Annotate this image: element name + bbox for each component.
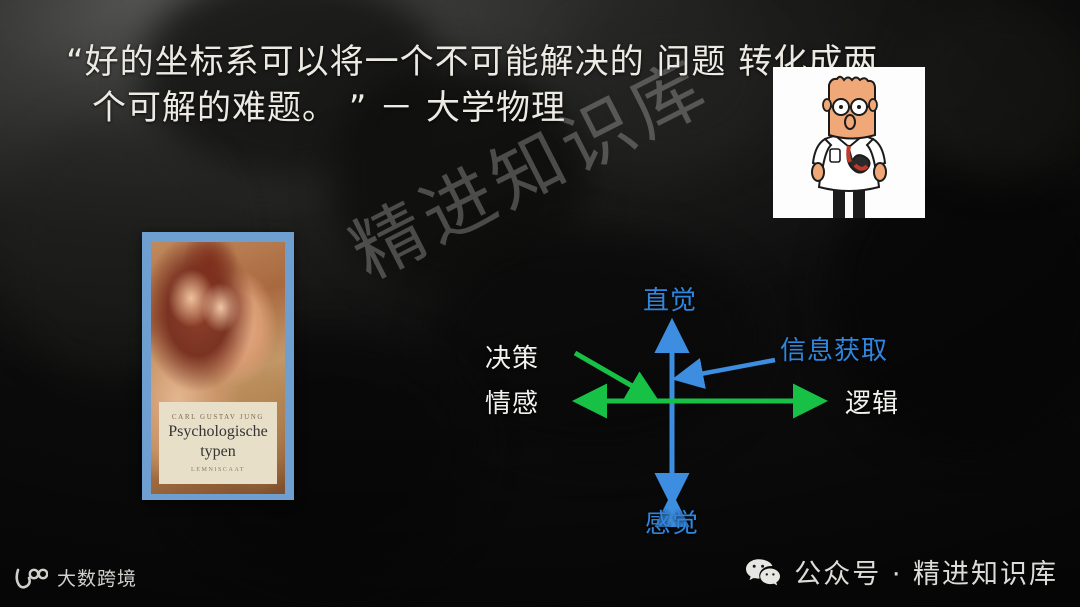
axis-label-feeling: 情感 bbox=[485, 383, 539, 420]
brand-left-label: 大数跨境 bbox=[57, 564, 137, 591]
book-publisher: LEMNISCAAT bbox=[159, 467, 277, 473]
slide-canvas: 精进知识库 “好的坐标系可以将一个不可能解决的 问题 转化成两 个可解的难题。 … bbox=[0, 0, 1080, 607]
decision-pointer-arrow bbox=[575, 353, 653, 398]
book-author: CARL GUSTAV JUNG bbox=[159, 413, 277, 421]
dashu-logo-icon bbox=[14, 567, 48, 589]
book-title-line-2: typen bbox=[159, 444, 277, 461]
wechat-icon bbox=[744, 557, 782, 587]
annotation-label-decision: 决策 bbox=[485, 338, 539, 375]
axis-label-sensation: 感觉 bbox=[645, 503, 699, 540]
headline-line-1: “好的坐标系可以将一个不可能解决的 问题 转化成两 bbox=[66, 42, 878, 82]
axis-label-logic: 逻辑 bbox=[845, 383, 899, 420]
brand-right-label: 公众号 · 精进知识库 bbox=[794, 552, 1058, 591]
axis-label-intuition: 直觉 bbox=[643, 280, 697, 317]
brand-left: 大数跨境 bbox=[14, 564, 137, 591]
book-title-line-1: Psychologische bbox=[159, 424, 277, 441]
dilbert-illustration bbox=[773, 67, 925, 218]
brand-right: 公众号 · 精进知识库 bbox=[744, 552, 1058, 591]
axes-diagram: 直觉 感觉 决策 情感 逻辑 信息获取 bbox=[450, 270, 930, 550]
annotation-label-information: 信息获取 bbox=[780, 330, 888, 367]
cartoon-image bbox=[773, 67, 925, 218]
book-cover-image: CARL GUSTAV JUNG Psychologische typen LE… bbox=[142, 232, 294, 500]
book-cover-label: CARL GUSTAV JUNG Psychologische typen LE… bbox=[159, 402, 277, 484]
information-pointer-arrow bbox=[679, 360, 775, 378]
